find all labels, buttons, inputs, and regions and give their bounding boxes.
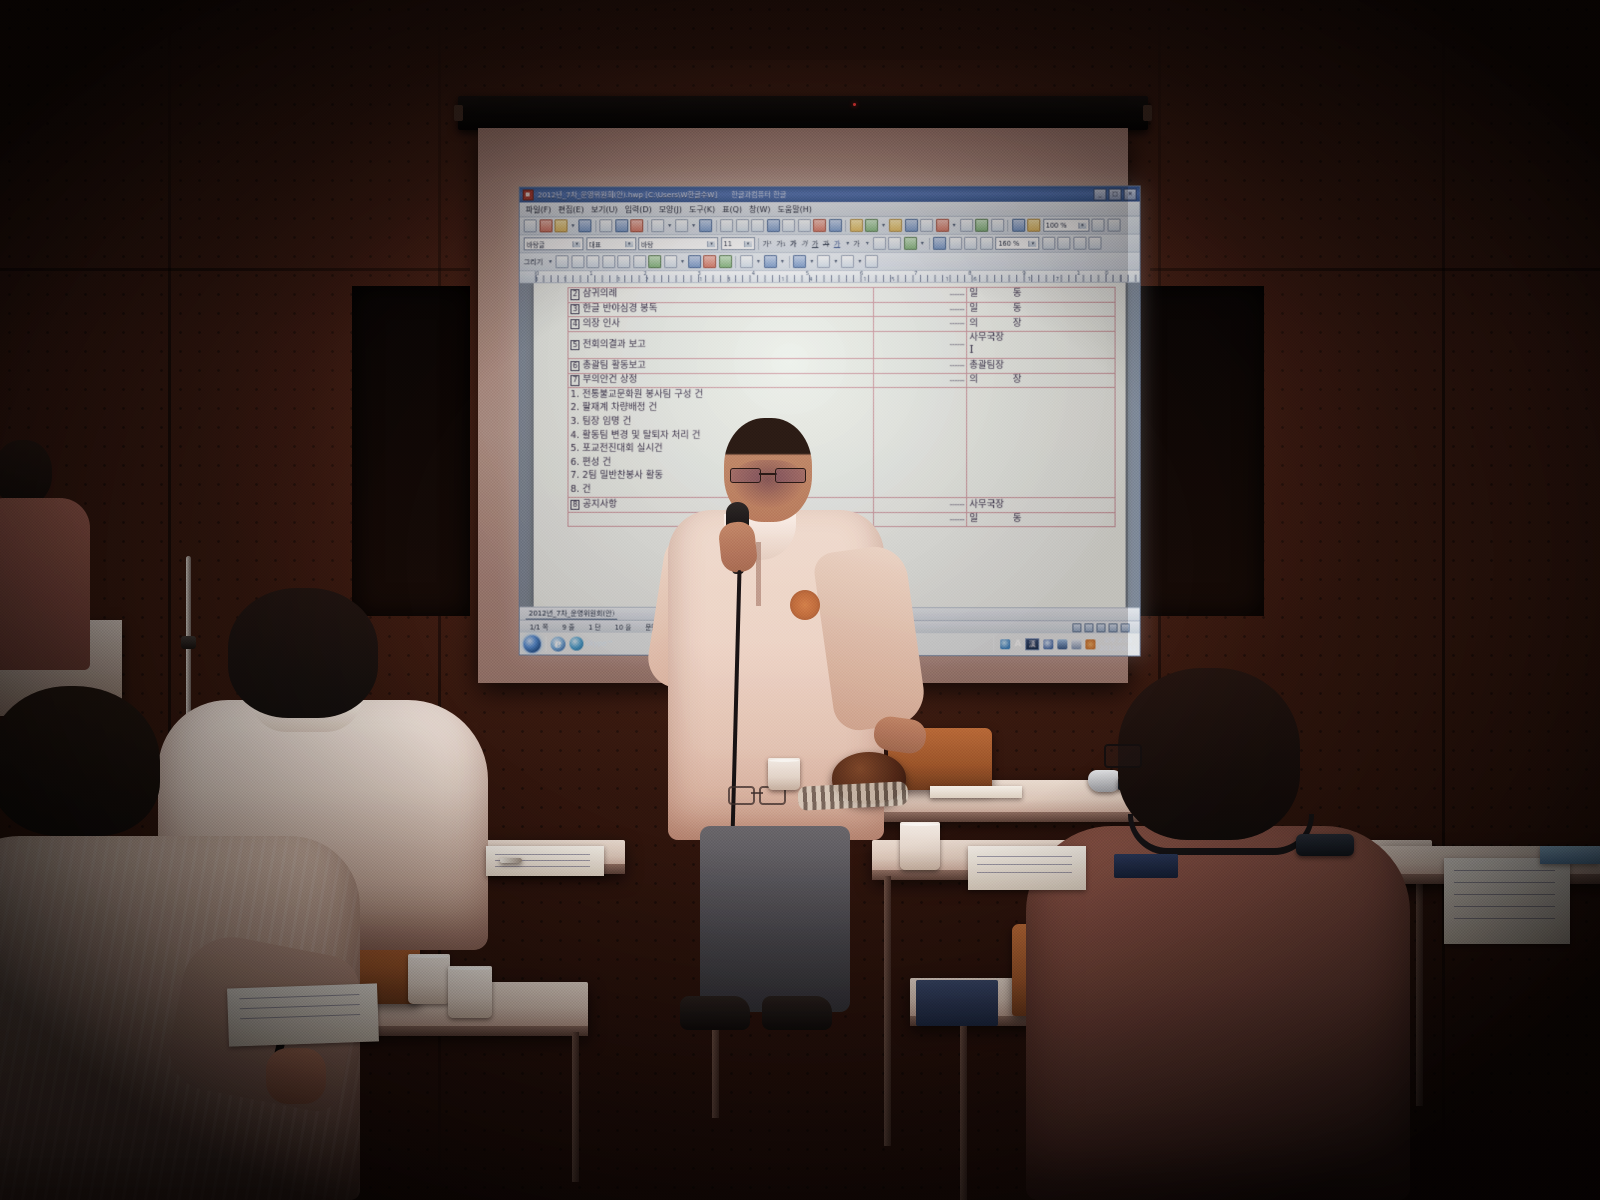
table-leg (960, 1022, 967, 1200)
agenda-item-cell: 5전회의결과 보고 (568, 331, 874, 359)
agenda-item-text: 총괄팀 활동보고 (583, 360, 646, 371)
highlight-color-icon[interactable]: 가 (853, 238, 861, 248)
agenda-leader-dots: ------ (874, 331, 967, 358)
legs (700, 826, 850, 1012)
print-icon[interactable] (599, 219, 612, 232)
indent-decrease-icon[interactable] (873, 237, 886, 250)
agenda-responsible-cell: 사무국장 I (967, 331, 1115, 359)
attendee-maroon-shirt (1000, 668, 1420, 1200)
copy-icon[interactable] (736, 219, 749, 232)
toolbar-separator (647, 220, 648, 232)
paste-icon[interactable] (751, 219, 764, 232)
window-title: 2012년_7차_운영위원회(안).hwp [C:\Users\W한글수W] (538, 190, 718, 200)
recent-folder-icon[interactable] (555, 219, 568, 232)
attendee-far-left (0, 440, 114, 670)
tray-clock[interactable]: 오후 2:55 2012/08/11 (1100, 636, 1137, 652)
tray-date: 2012/08/11 (1100, 644, 1137, 652)
eyeglasses-worn (730, 468, 806, 481)
cut-icon[interactable] (720, 219, 733, 232)
agenda-item-text: 의장 인사 (583, 318, 620, 329)
pen-icon[interactable] (904, 237, 917, 250)
agenda-leader-dots: ------ (874, 317, 967, 332)
agenda-row: 6총괄팀 활동보고------총괄팀장 (568, 359, 1115, 374)
chevron-down-icon[interactable]: ▾ (679, 256, 685, 267)
agenda-item-cell: 3한글 반야심경 봉독 (568, 302, 874, 317)
ime-latin-icon[interactable]: A (1014, 640, 1021, 649)
notepad-paper (227, 983, 379, 1046)
menu-view[interactable]: 보기(U) (591, 204, 618, 215)
toolbar-separator (929, 237, 930, 249)
agenda-responsible-text: 일동 (969, 304, 1021, 315)
head (0, 686, 160, 836)
menu-window[interactable]: 창(W) (749, 204, 770, 215)
network-icon[interactable] (1000, 639, 1010, 649)
agenda-sub-spacer (967, 456, 1115, 470)
hyperlink-icon[interactable] (960, 219, 973, 232)
paper-cup (408, 954, 450, 1004)
toolbar-separator (716, 220, 717, 232)
redo-icon[interactable] (675, 219, 688, 232)
zoom-out-icon[interactable] (1107, 219, 1120, 232)
menu-tools[interactable]: 도구(K) (689, 204, 715, 215)
print-preview-icon[interactable] (615, 219, 628, 232)
close-button[interactable]: ✕ (1124, 188, 1137, 200)
toolbar-separator (735, 256, 736, 268)
freeform-icon[interactable] (649, 255, 662, 268)
notebook (916, 980, 998, 1026)
head (1118, 668, 1300, 840)
maximize-button[interactable]: □ (1109, 188, 1122, 200)
wall-alcove-right (1134, 286, 1264, 616)
agenda-row: 4의장 인사------의장 (568, 316, 1115, 331)
equation-icon[interactable] (920, 219, 933, 232)
menu-file[interactable]: 파일(F) (526, 204, 551, 215)
underline-icon[interactable]: 가 (812, 239, 820, 249)
laser-pointer-dot (853, 103, 856, 106)
chevron-down-icon[interactable]: ▾ (625, 241, 633, 247)
agenda-sub-spacer (874, 388, 967, 402)
shirt-emblem (790, 590, 820, 620)
subscript-icon[interactable]: 가₁ (776, 239, 787, 249)
chevron-down-icon[interactable]: ▾ (1078, 222, 1086, 228)
housing-end-cap (454, 105, 463, 121)
agenda-sub-item-text: 2. 팔재계 차량배정 건 (568, 402, 874, 416)
pen (500, 858, 522, 863)
ime-hanja-icon[interactable]: 漢 (1025, 638, 1039, 650)
align-right-icon[interactable] (964, 237, 977, 250)
rotate-icon[interactable] (841, 255, 854, 268)
style-combo[interactable]: 바탕글 ▾ (524, 237, 584, 250)
agenda-sub-spacer (967, 429, 1115, 443)
window-titlebar: 2012년_7차_운영위원회(안).hwp [C:\Users\W한글수W] 한… (520, 186, 1140, 202)
page-view-icon[interactable] (1027, 219, 1040, 232)
line-spacing-combo[interactable]: 160 % ▾ (995, 237, 1039, 250)
agenda-number-box: 2 (570, 290, 579, 300)
eyeglasses-worn (1104, 744, 1142, 768)
minimize-button[interactable]: _ (1093, 188, 1106, 200)
save-icon[interactable] (578, 219, 591, 232)
start-orb-icon[interactable] (523, 634, 542, 653)
ellipse-icon[interactable] (587, 255, 600, 268)
paper-cup (900, 822, 940, 870)
toolbar-separator (789, 256, 790, 268)
curve-icon[interactable] (633, 255, 646, 268)
order-icon[interactable] (865, 255, 878, 268)
align-justify-icon[interactable] (980, 237, 993, 250)
shape-fill-icon[interactable] (740, 255, 753, 268)
agenda-responsible-cell: 일동 (967, 512, 1115, 527)
find-icon[interactable] (699, 219, 712, 232)
standard-toolbar[interactable]: ▾ ▾ ▾ (520, 217, 1140, 236)
footnote-icon[interactable] (936, 219, 949, 232)
wall-panel-seam (1442, 0, 1445, 1200)
agenda-item-text: 공지사항 (583, 498, 617, 509)
font-size-combo[interactable]: 11 ▾ (721, 237, 755, 250)
indent-increase-icon[interactable] (888, 237, 901, 250)
screen-roller-housing (458, 96, 1148, 130)
agenda-responsible-text: 일동 (969, 289, 1021, 300)
num-icon[interactable] (1121, 623, 1130, 632)
agenda-sub-spacer (967, 484, 1115, 498)
system-tray[interactable]: A 漢 오후 2:55 2012/08/11 (993, 636, 1136, 652)
format-brush-icon[interactable] (767, 219, 780, 232)
agenda-leader-dots: ------ (874, 359, 967, 374)
number-list-icon[interactable] (1089, 237, 1102, 250)
agenda-item-text: 부의안건 상정 (583, 374, 638, 385)
agenda-responsible-text: 사무국장 (969, 333, 1021, 344)
left-hand-holding-microphone (717, 520, 758, 573)
zoom-value: 100 % (1046, 221, 1067, 229)
agenda-item-cell: 7부의안건 상정 (568, 373, 874, 388)
agenda-responsible-text: 의장 (969, 375, 1021, 386)
outline-value: 대표 (589, 239, 601, 249)
agenda-leader-dots: ------ (874, 302, 967, 317)
handout-paper (968, 846, 1086, 890)
char-shape-icon[interactable] (798, 219, 811, 232)
overwrite-icon[interactable] (1084, 623, 1093, 632)
agenda-row: 7부의안건 상정------의장 (568, 373, 1115, 388)
ruler-numbers: 0 1 2 3 4 5 6 7 8 9 10 11 12 13 14 15 16… (536, 271, 1140, 284)
polygon-icon[interactable] (618, 255, 631, 268)
window-title-suffix: 한글과컴퓨터 한글 (731, 190, 786, 200)
agenda-responsible-cell: 의장 (967, 373, 1115, 388)
picture-icon[interactable] (850, 219, 863, 232)
open-folder-icon[interactable] (539, 219, 552, 232)
clipart-icon[interactable] (703, 255, 716, 268)
superscript-icon[interactable]: 가¹ (763, 239, 774, 249)
menu-table[interactable]: 표(Q) (722, 204, 742, 215)
screen-split-icon[interactable] (1012, 219, 1025, 232)
rectangle-icon[interactable] (571, 255, 584, 268)
chevron-down-icon[interactable]: ▾ (667, 220, 673, 231)
shirt-placket (756, 542, 761, 606)
hand (266, 1048, 326, 1104)
caps-icon[interactable] (1109, 623, 1118, 632)
agenda-item-cell: 6총괄팀 활동보고 (568, 359, 874, 374)
agenda-number-box: 4 (570, 319, 579, 329)
document-tab[interactable]: 2012년_7차_운영위원회(안) (526, 608, 618, 619)
text-color-icon[interactable]: 가 (834, 238, 842, 248)
chevron-down-icon[interactable]: ▾ (881, 220, 887, 231)
zoom-combo[interactable]: 100 % ▾ (1043, 219, 1089, 232)
mobile-phone (1296, 834, 1354, 856)
chevron-down-icon[interactable]: ▾ (572, 241, 580, 247)
align-center-icon[interactable] (949, 237, 962, 250)
menubar[interactable]: 파일(F) 편집(E) 보기(U) 입력(D) 모양(J) 도구(K) 표(Q)… (520, 202, 1140, 218)
zoom-status-icon[interactable] (1096, 623, 1105, 632)
status-indicators (1072, 623, 1129, 632)
agenda-sub-spacer (967, 443, 1115, 457)
housing-end-cap (1143, 105, 1152, 121)
agenda-number-box: 7 (570, 375, 579, 385)
chevron-down-icon[interactable]: ▾ (755, 256, 761, 267)
agenda-sub-spacer (967, 388, 1115, 402)
chevron-down-icon[interactable]: ▾ (833, 256, 839, 267)
agenda-responsible-cell: 일동 (967, 302, 1115, 317)
hwp-tray-icon[interactable] (1072, 639, 1082, 649)
update-icon[interactable] (1086, 639, 1096, 649)
agenda-item-text: 전회의결과 보고 (583, 339, 646, 350)
chevron-down-icon[interactable]: ▾ (779, 256, 785, 267)
wall-alcove-left (352, 286, 470, 616)
toolbar-separator (595, 220, 596, 232)
bold-icon[interactable]: 가 (790, 239, 798, 249)
chevron-down-icon[interactable]: ▾ (744, 241, 752, 247)
textbox-icon[interactable] (719, 255, 732, 268)
wall-panel-seam (1150, 268, 1600, 271)
chevron-down-icon[interactable]: ▾ (864, 238, 870, 249)
agenda-row: 3한글 반야심경 봉독------일동 (568, 302, 1115, 317)
zoom-in-icon[interactable] (1091, 219, 1104, 232)
agenda-number-box: 5 (570, 340, 579, 350)
agenda-sub-spacer (967, 470, 1115, 484)
agenda-responsible-text: 의장 (969, 318, 1021, 329)
presenter-with-microphone (646, 418, 946, 1058)
shape-line-icon[interactable] (764, 255, 777, 268)
align-objects-icon[interactable] (817, 255, 830, 268)
agenda-row: 5전회의결과 보고------사무국장 I (568, 331, 1115, 359)
attendee-striped-shirt (0, 686, 380, 1200)
agenda-leader-dots: ------ (874, 373, 967, 388)
quick-launch-separator (546, 636, 547, 651)
skype-label: Skype™ (585, 640, 613, 648)
format-toolbar[interactable]: 바탕글 ▾ 대표 ▾ 바탕 ▾ 11 ▾ (520, 235, 1140, 254)
chevron-down-icon[interactable]: ▾ (691, 220, 697, 231)
agenda-number-box: 6 (570, 361, 579, 371)
status-page: 1/1 쪽 (530, 622, 549, 632)
spell-check-icon[interactable] (782, 219, 795, 232)
status-line: 9 줄 (562, 622, 574, 632)
chevron-down-icon[interactable]: ▾ (707, 241, 715, 247)
status-column: 1 단 (589, 622, 601, 632)
agenda-row: 2삼귀의례------일동 (568, 287, 1115, 302)
paper-cup (768, 758, 800, 790)
chevron-down-icon[interactable]: ▾ (570, 220, 576, 231)
shield-icon[interactable] (1058, 639, 1068, 649)
notebook (1114, 854, 1178, 878)
font-combo[interactable]: 바탕 ▾ (638, 237, 718, 250)
chevron-down-icon[interactable]: ▾ (919, 238, 925, 249)
chart-icon[interactable] (889, 219, 902, 232)
agenda-sub-row: 1. 전통불교문화원 봉사팀 구성 건 (568, 388, 1115, 402)
style-icon[interactable] (829, 219, 842, 232)
agenda-sub-spacer (967, 416, 1115, 430)
ruler-corner (520, 271, 536, 282)
skype-icon[interactable]: Skype™ (569, 637, 613, 651)
shoe (680, 996, 750, 1030)
agenda-number-box: 3 (570, 304, 579, 314)
chevron-down-icon[interactable]: ▾ (845, 238, 851, 249)
bookmark-icon[interactable] (975, 219, 988, 232)
chevron-down-icon[interactable]: ▾ (857, 256, 863, 267)
blue-folder (1540, 846, 1600, 864)
toolbar-separator (845, 219, 846, 231)
meeting-room-photo: 2012년_7차_운영위원회(안).hwp [C:\Users\W한글수W] 한… (0, 0, 1600, 1200)
agenda-sub-row: 2. 팔재계 차량배정 건 (568, 402, 1115, 416)
agenda-item-text: 한글 반야심경 봉독 (583, 303, 658, 314)
torso (0, 498, 90, 670)
agenda-item-cell: 4의장 인사 (568, 317, 874, 332)
agenda-responsible-text: 일동 (969, 514, 1021, 525)
undo-icon[interactable] (651, 219, 664, 232)
handout-paper (1444, 858, 1570, 944)
agenda-responsible-cell: 일동 (967, 287, 1115, 302)
menu-format[interactable]: 모양(J) (659, 204, 682, 215)
connector-icon[interactable] (664, 255, 677, 268)
chevron-down-icon[interactable]: ▾ (1028, 240, 1036, 246)
para-shape-icon[interactable] (813, 219, 826, 232)
paper-cup (448, 966, 492, 1018)
drawing-toolbar[interactable]: 그리기 ▾ ▾ (520, 253, 1140, 272)
agenda-leader-dots: ------ (874, 287, 967, 302)
table-leg (572, 1032, 579, 1182)
style-value: 바탕글 (527, 239, 545, 249)
toolbar-separator (758, 238, 759, 250)
font-value: 바탕 (641, 239, 653, 249)
group-icon[interactable] (793, 255, 806, 268)
picture-insert-icon[interactable] (688, 255, 701, 268)
wall-panel-seam (0, 268, 470, 271)
agenda-responsible-text: 사무국장 (969, 500, 1021, 511)
internet-explorer-icon[interactable]: e (551, 636, 566, 651)
drawing-toolbar-label: 그리기 (524, 257, 545, 267)
horizontal-ruler[interactable]: 0 1 2 3 4 5 6 7 8 9 10 11 12 13 14 15 16… (520, 271, 1140, 284)
menu-insert[interactable]: 입력(D) (625, 204, 652, 215)
window-controls[interactable]: _ □ ✕ (1093, 188, 1136, 200)
shoe (762, 996, 832, 1030)
head (0, 440, 52, 506)
shape-icon[interactable] (905, 219, 918, 232)
memo-icon[interactable] (991, 219, 1004, 232)
menu-help[interactable]: 도움말(H) (778, 204, 812, 215)
agenda-sub-spacer (967, 402, 1115, 416)
agenda-responsible-cell: 사무국장 (967, 498, 1115, 513)
align-left-icon[interactable] (933, 237, 946, 250)
strikethrough-icon[interactable]: 가 (823, 238, 831, 248)
menu-edit[interactable]: 편집(E) (558, 204, 584, 215)
pdf-icon[interactable] (630, 219, 643, 232)
agenda-sub-spacer (874, 402, 967, 416)
agenda-responsible-text: 총괄팀장 (969, 360, 1021, 371)
bullet-list-icon[interactable] (1073, 237, 1086, 250)
chevron-down-icon[interactable]: ▾ (547, 256, 553, 267)
table-icon[interactable] (865, 219, 878, 232)
volume-icon[interactable] (1043, 639, 1053, 649)
line-spacing-decrease-icon[interactable] (1042, 237, 1055, 250)
italic-icon[interactable]: 가 (801, 239, 809, 249)
line-icon[interactable] (556, 255, 569, 268)
font-size-value: 11 (724, 240, 732, 248)
toolbar-separator (1007, 219, 1008, 231)
agenda-responsible-cell: 의장 (967, 316, 1115, 331)
agenda-item-cell: 2삼귀의례 (568, 287, 874, 302)
skype-bubble-icon (569, 637, 583, 651)
chevron-down-icon[interactable]: ▾ (809, 256, 815, 267)
agenda-number-box: 8 (570, 499, 579, 509)
outline-combo[interactable]: 대표 ▾ (586, 237, 636, 250)
text-caret: I (969, 343, 973, 356)
arc-icon[interactable] (602, 255, 615, 268)
line-spacing-value: 160 % (998, 239, 1019, 247)
agenda-sub-item-text: 1. 전통불교문화원 봉사팀 구성 건 (568, 388, 874, 402)
status-char: 10 을 (615, 622, 632, 632)
agenda-responsible-cell: 총괄팀장 (967, 359, 1115, 374)
hwp-app-icon (523, 189, 534, 200)
agenda-item-text: 삼귀의례 (583, 289, 617, 300)
new-document-icon[interactable] (524, 219, 537, 232)
han-indicator-icon[interactable] (1072, 623, 1081, 632)
tray-time: 오후 2:55 (1104, 636, 1132, 644)
line-spacing-increase-icon[interactable] (1058, 237, 1071, 250)
chevron-down-icon[interactable]: ▾ (951, 220, 957, 231)
